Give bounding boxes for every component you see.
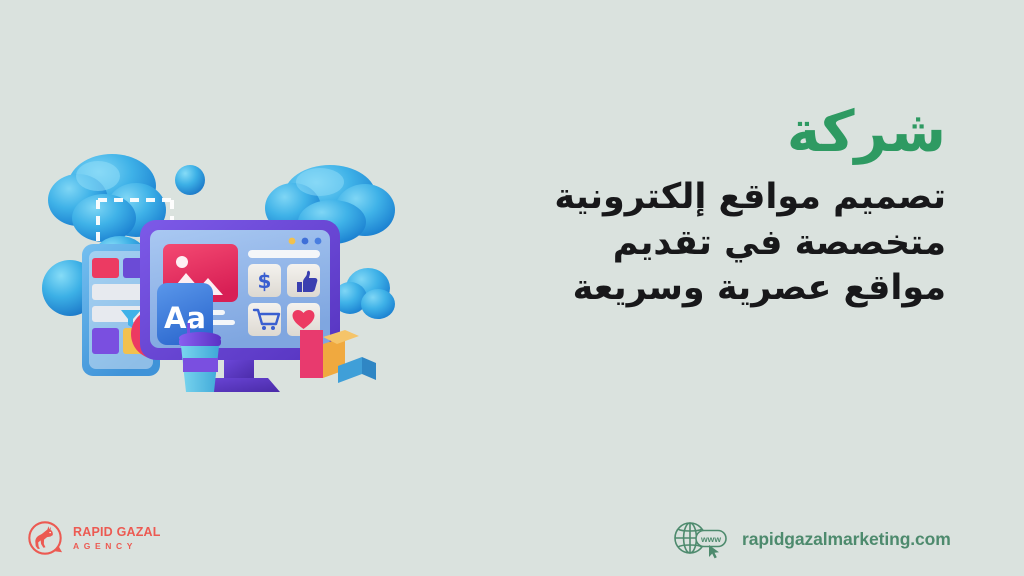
pink-block bbox=[300, 330, 323, 378]
headline-line-2: متخصصة في تقديم bbox=[426, 221, 946, 267]
web-design-illustration: $ Aa bbox=[20, 138, 420, 400]
website-block[interactable]: www rapidgazalmarketing.com bbox=[672, 518, 951, 560]
headline-line-1: تصميم مواقع إلكترونية bbox=[426, 175, 946, 221]
agency-name: RAPID GAZAL bbox=[73, 526, 161, 539]
headline-eyebrow: شركة bbox=[426, 104, 946, 161]
agency-wordmark: RAPID GAZAL AGENCY bbox=[73, 526, 161, 551]
banner-canvas: $ Aa bbox=[0, 0, 1024, 576]
svg-text:Aa: Aa bbox=[164, 301, 206, 335]
monitor-neck bbox=[224, 360, 254, 380]
decorative-blocks bbox=[300, 330, 376, 383]
headline-block: شركة تصميم مواقع إلكترونية متخصصة في تقد… bbox=[426, 104, 946, 312]
gazelle-circle-icon bbox=[26, 519, 64, 557]
window-dot-yellow bbox=[289, 238, 296, 245]
globe-www-cursor-icon: www bbox=[672, 518, 732, 560]
agency-subtitle: AGENCY bbox=[73, 542, 161, 551]
agency-logo[interactable]: RAPID GAZAL AGENCY bbox=[26, 519, 161, 557]
website-url[interactable]: rapidgazalmarketing.com bbox=[742, 529, 951, 550]
phone-block-pink bbox=[92, 258, 119, 278]
headline-line-3: مواقع عصرية وسريعة bbox=[426, 266, 946, 312]
shopping-cart-tile bbox=[248, 303, 281, 336]
cup-sleeve bbox=[183, 358, 218, 372]
svg-text:$: $ bbox=[258, 269, 272, 293]
www-badge-label: www bbox=[700, 534, 721, 544]
window-dot-blue-1 bbox=[302, 238, 309, 245]
phone-block-violet bbox=[92, 328, 119, 354]
window-dot-blue-2 bbox=[315, 238, 322, 245]
search-bar bbox=[248, 250, 320, 258]
sphere-small-top bbox=[175, 165, 205, 195]
cloud-right-small bbox=[333, 268, 395, 319]
